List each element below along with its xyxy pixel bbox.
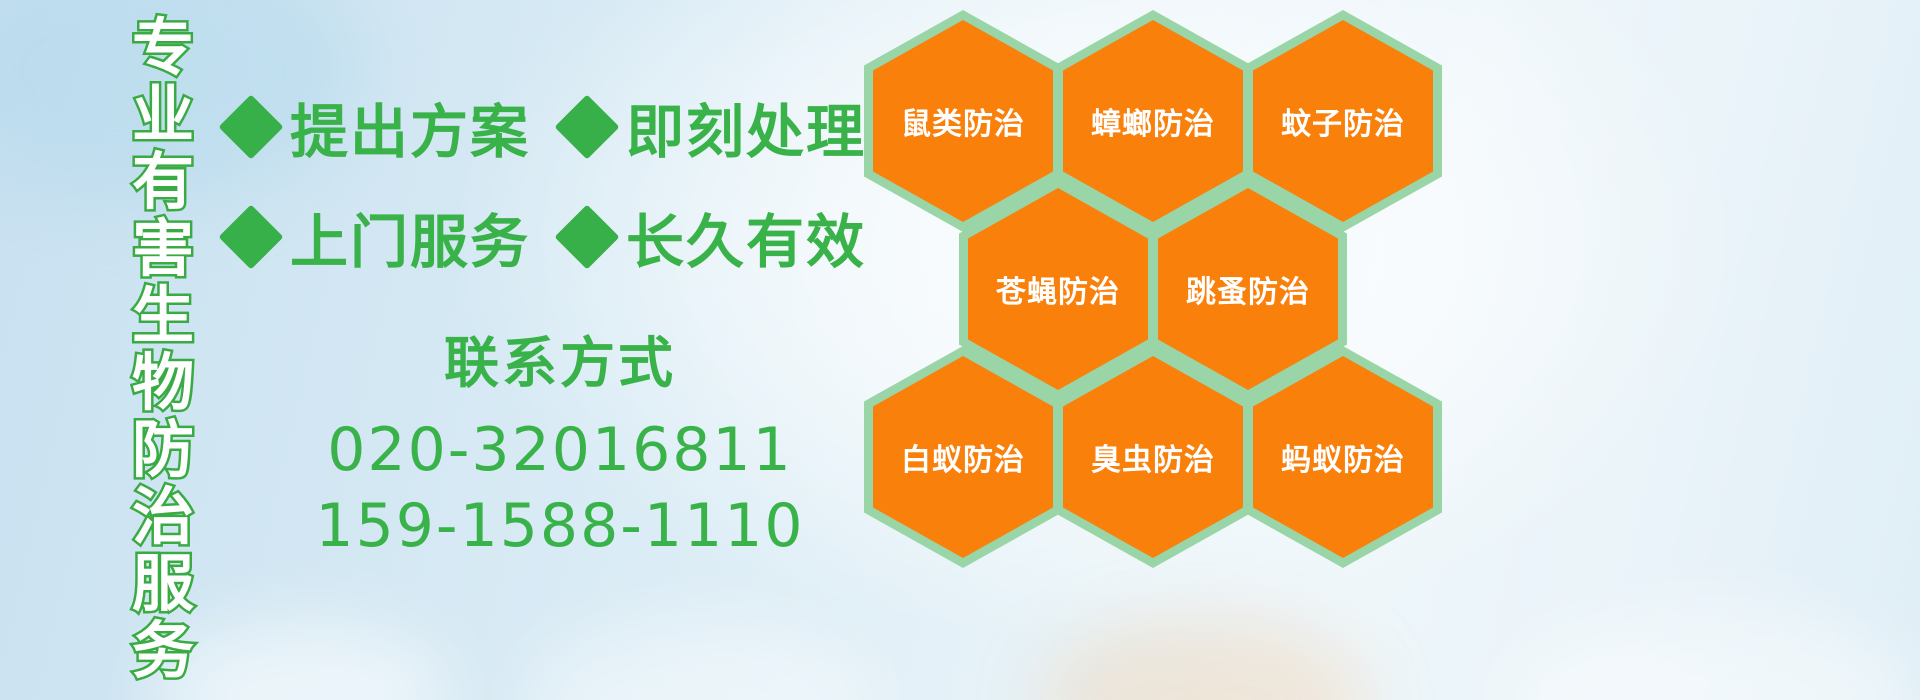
feature-item: 上门服务 xyxy=(228,195,530,279)
background-blob xyxy=(1500,610,1920,700)
background-blob xyxy=(150,620,450,700)
promo-banner: 专 业 有 害 生 物 防 治 服 务 提出方案 即刻处理 上门服务 xyxy=(0,0,1920,700)
feature-label: 提出方案 xyxy=(290,85,530,169)
vertical-title-char: 专 xyxy=(132,14,194,81)
diamond-icon xyxy=(554,204,619,269)
diamond-icon xyxy=(218,204,283,269)
background-blob xyxy=(520,620,880,700)
vertical-title-char: 业 xyxy=(132,81,194,148)
contact-phone-mobile[interactable]: 159-1588-1110 xyxy=(250,488,870,564)
vertical-title-char: 治 xyxy=(132,483,194,550)
feature-item: 即刻处理 xyxy=(564,85,866,169)
diamond-icon xyxy=(218,94,283,159)
vertical-title: 专 业 有 害 生 物 防 治 服 务 xyxy=(104,14,222,574)
vertical-title-char: 服 xyxy=(132,550,194,617)
feature-row: 上门服务 长久有效 xyxy=(228,182,868,292)
vertical-title-char: 有 xyxy=(132,148,194,215)
service-hex-label: 跳蚤防治 xyxy=(1186,267,1310,311)
feature-label: 上门服务 xyxy=(290,195,530,279)
feature-item: 长久有效 xyxy=(564,195,866,279)
vertical-title-char: 防 xyxy=(132,416,194,483)
service-hex-label: 鼠类防治 xyxy=(901,99,1025,143)
contact-title: 联系方式 xyxy=(250,318,870,398)
service-hex-label: 蟑螂防治 xyxy=(1091,99,1215,143)
service-hex-label: 苍蝇防治 xyxy=(996,267,1120,311)
contact-phone-landline[interactable]: 020-32016811 xyxy=(250,412,870,488)
contact-block: 联系方式 020-32016811 159-1588-1110 xyxy=(250,318,870,564)
feature-item: 提出方案 xyxy=(228,85,530,169)
vertical-title-char: 务 xyxy=(132,617,194,684)
vertical-title-char: 害 xyxy=(132,215,194,282)
service-honeycomb: 鼠类防治 蟑螂防治 蚊子防治 苍蝇防治 跳蚤防治 白蚁防治 臭虫防治 蚂蚁 xyxy=(856,0,1456,700)
service-hex-label: 臭虫防治 xyxy=(1091,435,1215,479)
feature-label: 长久有效 xyxy=(626,195,866,279)
service-hex-label: 蚂蚁防治 xyxy=(1281,435,1405,479)
service-hex-label: 白蚁防治 xyxy=(901,435,1025,479)
diamond-icon xyxy=(554,94,619,159)
service-hex-label: 蚊子防治 xyxy=(1281,99,1405,143)
vertical-title-char: 物 xyxy=(132,349,194,416)
feature-label: 即刻处理 xyxy=(626,85,866,169)
feature-row: 提出方案 即刻处理 xyxy=(228,72,868,182)
vertical-title-char: 生 xyxy=(132,282,194,349)
feature-list: 提出方案 即刻处理 上门服务 长久有效 xyxy=(228,72,868,292)
